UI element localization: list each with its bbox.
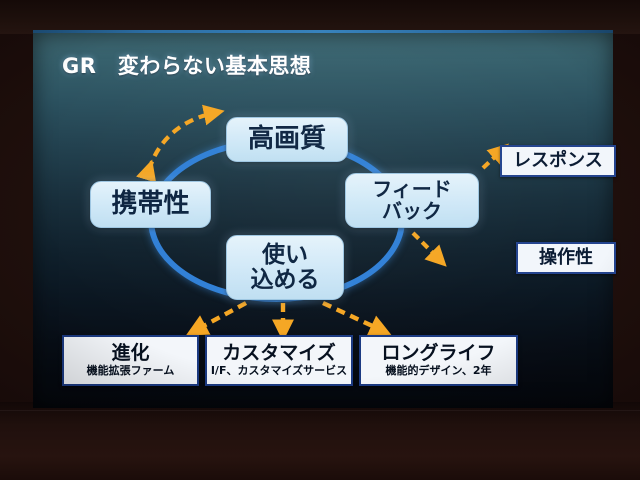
leaf-longlife-subtitle: 機能的デザイン、2年 [386,365,492,377]
node-quality[interactable]: 高画質 [226,117,348,162]
node-use-label-line2: 込める [251,268,320,293]
node-portability-label: 携帯性 [111,190,189,218]
wall-above-screen [0,0,640,34]
leaf-evolution-subtitle: 機能拡張ファーム [87,365,175,377]
slide-top-edge [33,30,613,33]
page-title: GR 変わらない基本思想 [62,50,311,80]
dashed-arrow-icon-feedback-operability [413,233,439,259]
node-use-label-line1: 使い [262,243,308,268]
node-feedback-label-line1: フィード [372,179,452,201]
leaf-longlife[interactable]: ロングライフ 機能的デザイン、2年 [359,335,518,386]
leaf-customize-title: カスタマイズ [222,344,335,364]
node-feedback-label-line2: バック [382,201,442,223]
wall-below-screen [0,402,640,480]
dashed-arrow-icon-use-evolution [196,303,246,330]
node-portability[interactable]: 携帯性 [90,181,211,228]
dashed-arrow-icon-feedback-response [483,151,501,168]
leaf-operability[interactable]: 操作性 [516,242,616,274]
node-use[interactable]: 使い 込める [226,235,344,300]
leaf-customize-subtitle: I/F、カスタマイズサービス [211,365,347,377]
leaf-evolution[interactable]: 進化 機能拡張ファーム [62,335,199,386]
leaf-operability-label: 操作性 [539,248,593,268]
leaf-longlife-title: ロングライフ [381,344,495,364]
node-quality-label: 高画質 [248,125,326,153]
leaf-response-label: レスポンス [513,151,603,171]
leaf-evolution-title: 進化 [111,344,149,364]
node-feedback[interactable]: フィード バック [345,173,479,228]
leaf-response[interactable]: レスポンス [500,145,616,177]
dashed-arrow-icon-use-longlife [323,303,381,330]
slide-canvas: GR 変わらない基本思想 高画質 [33,33,613,408]
projected-slide-photo: GR 変わらない基本思想 高画質 [0,0,640,480]
leaf-customize[interactable]: カスタマイズ I/F、カスタマイズサービス [205,335,353,386]
